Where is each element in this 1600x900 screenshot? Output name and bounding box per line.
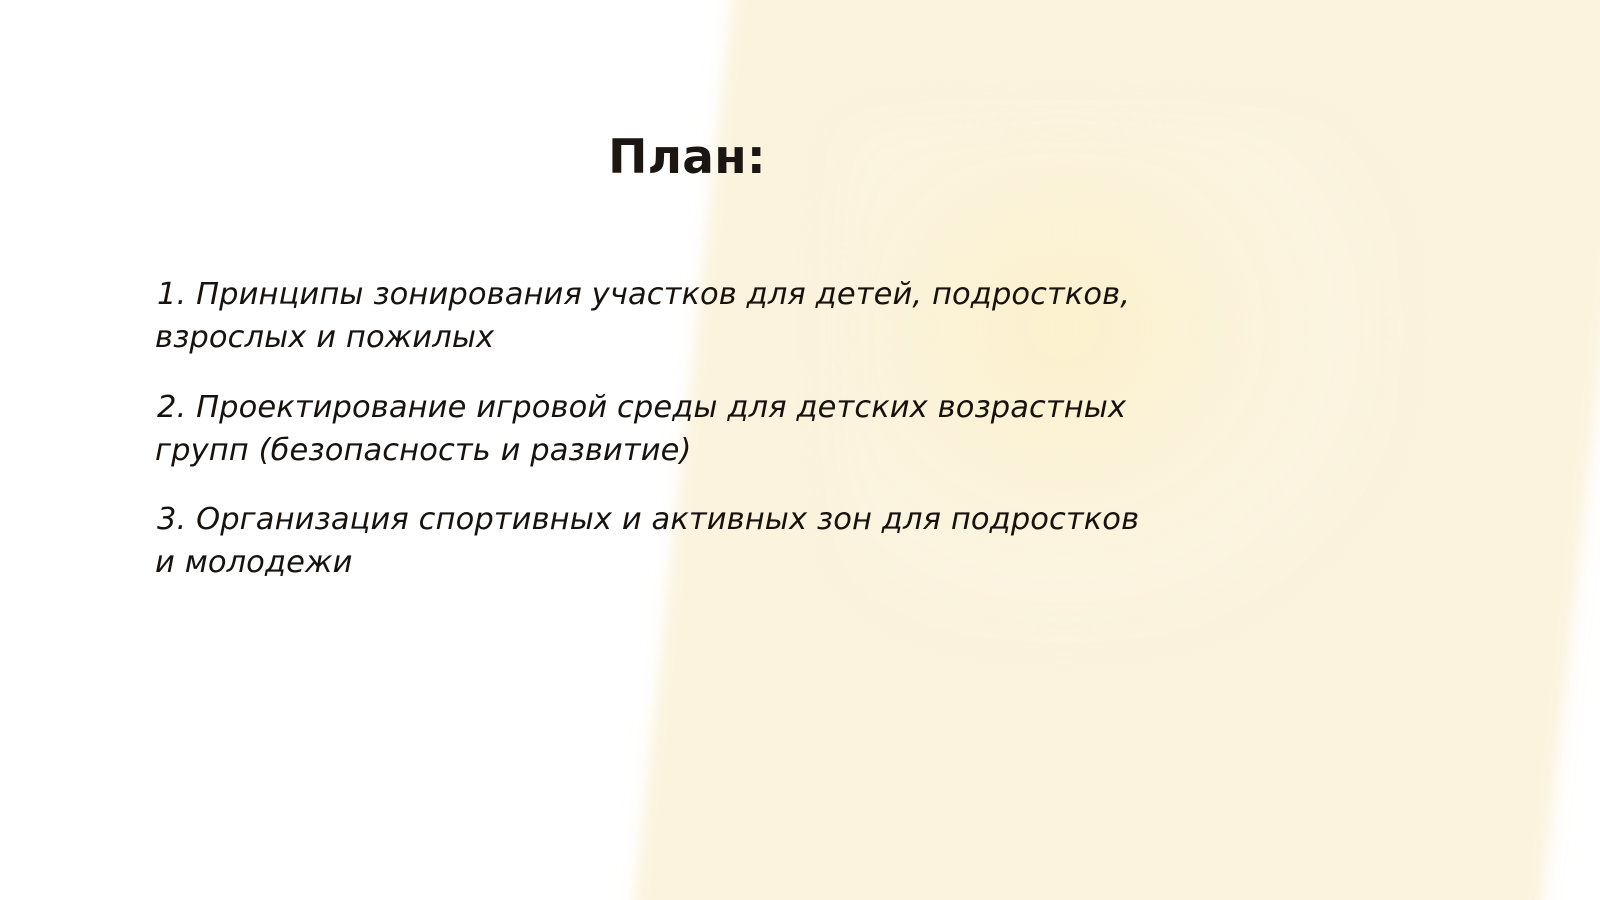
plan-list: 1. Принципы зонирования участков для дет…	[155, 273, 1140, 585]
list-item: 3. Организация спортивных и активных зон…	[155, 498, 1140, 585]
list-item: 1. Принципы зонирования участков для дет…	[155, 273, 1140, 360]
list-item: 2. Проектирование игровой среды для детс…	[155, 386, 1140, 473]
slide-content: План: 1. Принципы зонирования участков д…	[0, 0, 1600, 900]
presentation-slide: План: 1. Принципы зонирования участков д…	[0, 0, 1600, 900]
page-title: План:	[0, 133, 1374, 184]
